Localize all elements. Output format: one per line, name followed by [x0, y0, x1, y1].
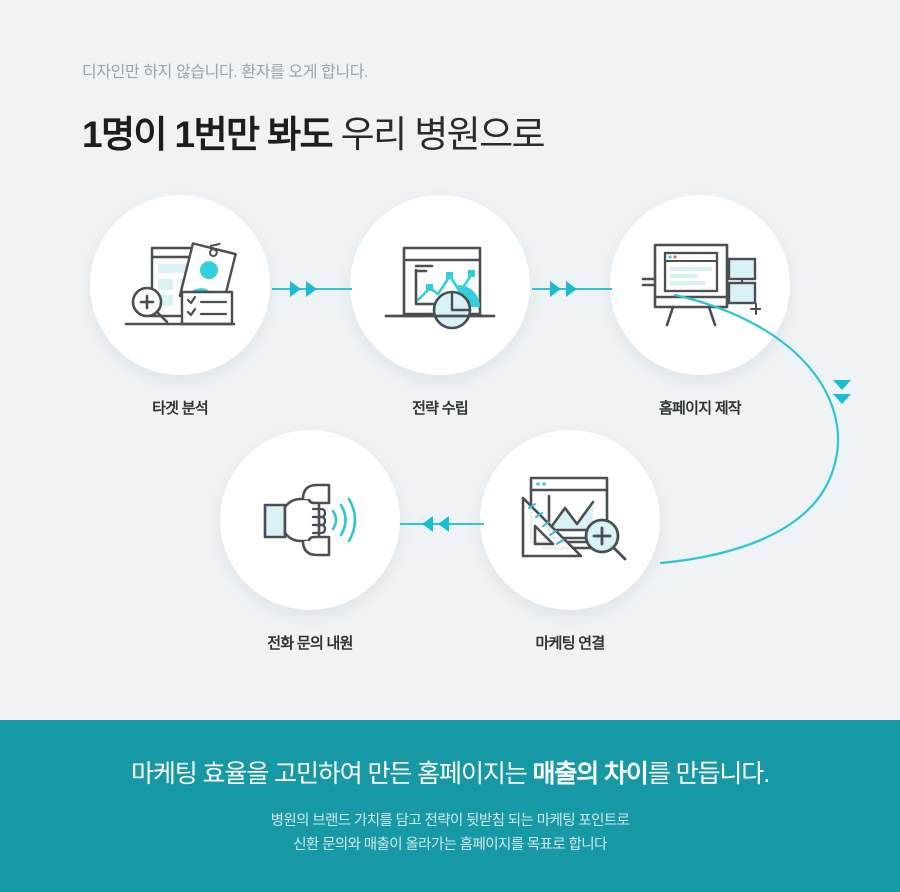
- step-label: 전화 문의 내원: [220, 632, 400, 653]
- arrowhead-icon: [306, 281, 317, 297]
- footer-subtext-line-1: 병원의 브랜드 가치를 담고 전략이 뒷받침 되는 마케팅 포인트로: [271, 810, 630, 834]
- connector-step1-to-step2: [272, 280, 352, 298]
- step-label: 타겟 분석: [90, 397, 270, 418]
- connector-step5-to-step4: [400, 515, 484, 533]
- step-icon-bubble: [350, 195, 530, 375]
- arrowheads-down: [833, 380, 851, 404]
- header: 디자인만 하지 않습니다. 환자를 오게 합니다. 1명이 1번만 봐도 우리 …: [82, 62, 782, 158]
- curved-connector-path: [655, 255, 900, 575]
- document-person-search-icon: [120, 230, 240, 340]
- footer-banner: 마케팅 효율을 고민하여 만든 홈페이지는 매출의 차이를 만듭니다. 병원의 …: [0, 720, 900, 892]
- step-icon-bubble: [220, 430, 400, 610]
- arrowhead-icon: [833, 394, 851, 404]
- arrowheads-left: [422, 516, 449, 532]
- chart-ruler-magnifier-icon: [509, 464, 631, 576]
- footer-headline-tail: 를 만듭니다.: [648, 760, 769, 788]
- process-step-target-analysis[interactable]: 타겟 분석: [90, 195, 270, 418]
- process-step-marketing-link[interactable]: 마케팅 연결: [480, 430, 660, 653]
- connector-step3-to-step5: [655, 255, 900, 575]
- step-label: 전략 수립: [350, 397, 530, 418]
- arrowhead-icon: [833, 380, 851, 390]
- footer-subtext: 병원의 브랜드 가치를 담고 전략이 뒷받침 되는 마케팅 포인트로 신환 문의…: [271, 810, 630, 858]
- step-icon-bubble: [480, 430, 660, 610]
- arrowhead-icon: [550, 281, 561, 297]
- arrowhead-icon: [422, 516, 433, 532]
- step-label: 마케팅 연결: [480, 632, 660, 653]
- process-step-phone-inquiry[interactable]: 전화 문의 내원: [220, 430, 400, 653]
- connector-step2-to-step3: [532, 280, 612, 298]
- infographic-page: 디자인만 하지 않습니다. 환자를 오게 합니다. 1명이 1번만 봐도 우리 …: [0, 0, 900, 892]
- page-title: 1명이 1번만 봐도 우리 병원으로: [82, 104, 782, 158]
- kicker-text: 디자인만 하지 않습니다. 환자를 오게 합니다.: [82, 62, 782, 84]
- arrowhead-icon: [566, 281, 577, 297]
- footer-subtext-line-2: 신환 문의와 매출이 올라가는 홈페이지를 목표로 합니다: [271, 834, 630, 858]
- process-diagram: 타겟 분석: [0, 195, 900, 695]
- footer-headline-emphasis: 매출의 차이: [532, 760, 647, 788]
- step-icon-bubble: [90, 195, 270, 375]
- arrowheads-right: [290, 281, 317, 297]
- arrowhead-icon: [290, 281, 301, 297]
- process-step-strategy[interactable]: 전략 수립: [350, 195, 530, 418]
- arrowheads-right: [550, 281, 577, 297]
- arrowhead-icon: [438, 516, 449, 532]
- footer-headline: 마케팅 효율을 고민하여 만든 홈페이지는 매출의 차이를 만듭니다.: [131, 754, 769, 790]
- analytics-chart-icon: [380, 230, 500, 340]
- hand-phone-call-icon: [251, 465, 369, 575]
- footer-headline-lead: 마케팅 효율을 고민하여 만든 홈페이지는: [131, 760, 533, 788]
- headline-rest: 우리 병원으로: [332, 114, 544, 155]
- headline-emphasis: 1명이 1번만 봐도: [82, 114, 332, 155]
